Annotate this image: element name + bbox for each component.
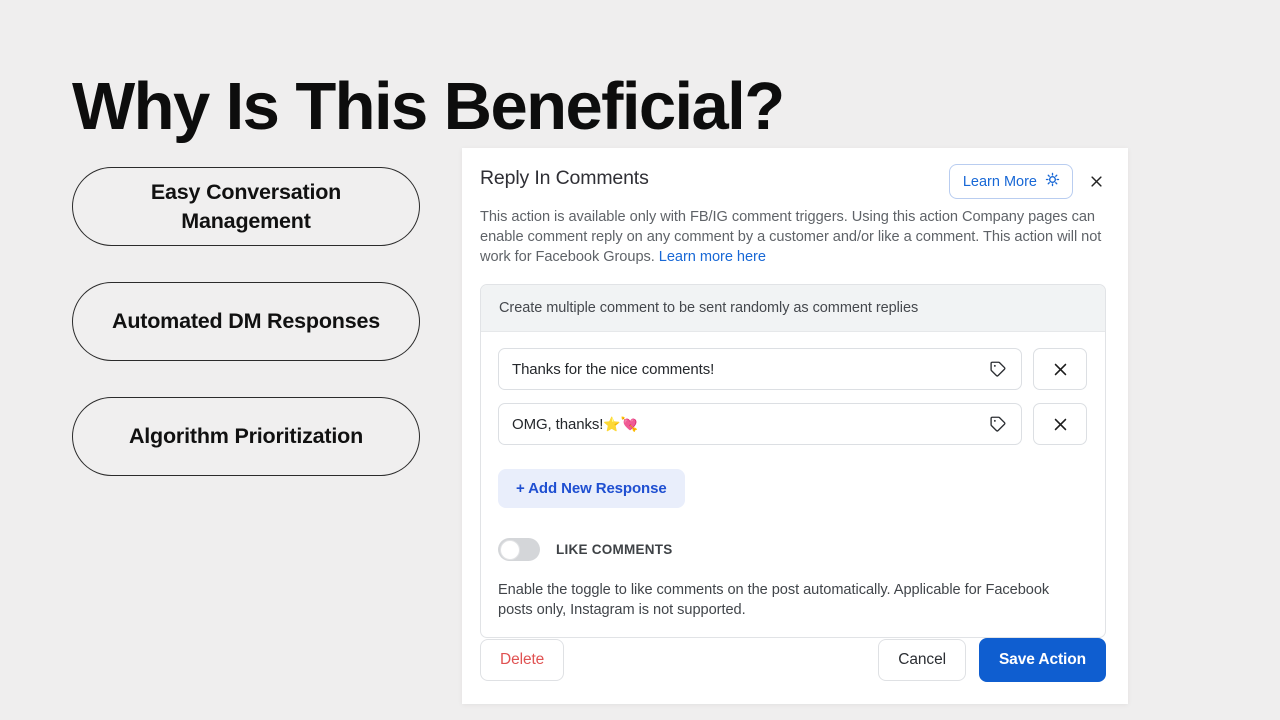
card-banner-text: Create multiple comment to be sent rando… xyxy=(481,285,1105,332)
response-emoji: ⭐💘 xyxy=(603,416,638,432)
close-icon[interactable] xyxy=(1084,170,1108,194)
lightbulb-icon xyxy=(1044,171,1061,192)
learn-more-here-link[interactable]: Learn more here xyxy=(659,249,766,265)
remove-response-button[interactable] xyxy=(1033,403,1087,445)
response-row: OMG, thanks!⭐💘 xyxy=(498,403,1087,445)
dialog-description-text: This action is available only with FB/IG… xyxy=(480,209,1101,265)
response-input-1[interactable]: Thanks for the nice comments! xyxy=(498,348,1022,390)
page-title: Why Is This Beneficial? xyxy=(72,72,784,142)
response-input-2[interactable]: OMG, thanks!⭐💘 xyxy=(498,403,1022,445)
dialog-header: Reply In Comments Learn More xyxy=(462,148,1128,267)
tag-icon[interactable] xyxy=(987,413,1009,435)
benefits-list: Easy Conversation Management Automated D… xyxy=(72,167,420,476)
response-input-value: OMG, thanks!⭐💘 xyxy=(512,416,979,433)
like-comments-help-text: Enable the toggle to like comments on th… xyxy=(498,580,1087,620)
responses-card: Create multiple comment to be sent rando… xyxy=(480,284,1106,638)
toggle-knob xyxy=(500,540,520,560)
response-input-text: OMG, thanks! xyxy=(512,416,603,433)
learn-more-button[interactable]: Learn More xyxy=(949,164,1073,199)
dialog-title: Reply In Comments xyxy=(480,164,649,190)
cancel-button[interactable]: Cancel xyxy=(878,639,966,681)
delete-button[interactable]: Delete xyxy=(480,639,564,681)
response-input-value: Thanks for the nice comments! xyxy=(512,361,979,378)
reply-in-comments-dialog: Reply In Comments Learn More xyxy=(462,148,1128,704)
dialog-description: This action is available only with FB/IG… xyxy=(480,207,1104,267)
like-comments-toggle-row: LIKE COMMENTS xyxy=(498,538,1087,561)
card-body: Thanks for the nice comments! xyxy=(481,332,1105,638)
add-new-response-button[interactable]: + Add New Response xyxy=(498,469,685,508)
benefit-pill-1: Easy Conversation Management xyxy=(72,167,420,246)
like-comments-toggle[interactable] xyxy=(498,538,540,561)
benefit-pill-2: Automated DM Responses xyxy=(72,282,420,361)
response-row: Thanks for the nice comments! xyxy=(498,348,1087,390)
like-comments-label: LIKE COMMENTS xyxy=(556,542,673,557)
learn-more-label: Learn More xyxy=(963,174,1037,190)
benefit-pill-3: Algorithm Prioritization xyxy=(72,397,420,476)
remove-response-button[interactable] xyxy=(1033,348,1087,390)
tag-icon[interactable] xyxy=(987,358,1009,380)
save-action-button[interactable]: Save Action xyxy=(979,638,1106,682)
dialog-footer: Delete Cancel Save Action xyxy=(462,638,1128,704)
